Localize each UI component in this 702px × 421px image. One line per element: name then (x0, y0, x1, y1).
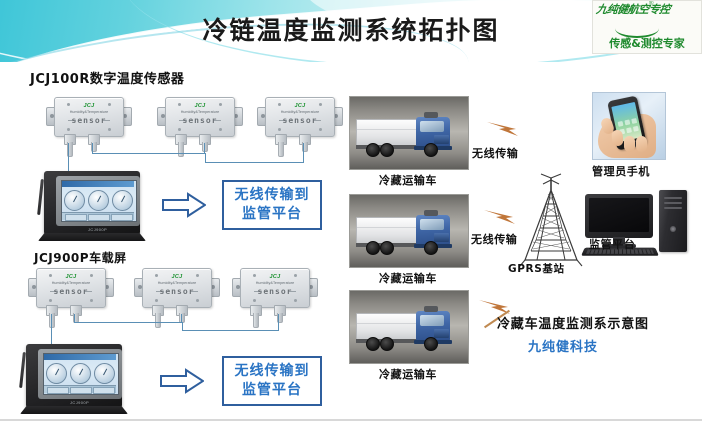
sensor-wire (74, 314, 75, 323)
antenna-icon (37, 179, 44, 215)
sensor-subtitle: Humidity&Temperature (166, 110, 234, 114)
sensor-probe-stem (155, 313, 161, 328)
sensor-word: sensor (266, 116, 334, 125)
vehicle-screen-device-2: JCJ900P (20, 344, 128, 420)
callout2-line2: 监管平台 (235, 381, 310, 400)
company-name: 九纯健科技 (528, 336, 598, 355)
slide-root: 冷链温度监测系统拓扑图 九纯健航空专控 ® 传感&测控专家 JCJ100R数字温… (0, 0, 702, 421)
sensor-probe-stem (49, 313, 55, 328)
vehicle-screen-device: JCJ900P (38, 171, 146, 247)
sensor-brand: JCJ (241, 274, 309, 280)
truck-wheel (366, 337, 380, 351)
wireless-label-2: 无线传输 (471, 231, 517, 247)
truck-photo (349, 96, 469, 170)
screen-case: JCJ900P (44, 171, 140, 235)
screw-icon (219, 128, 222, 131)
screen-button (88, 214, 110, 221)
truck-wheel (380, 143, 394, 157)
sensor-wire (182, 330, 278, 331)
screen-stand (38, 233, 146, 241)
sensor-probe-stem (202, 142, 208, 152)
registered-mark-icon: ® (649, 1, 653, 7)
sensor-word: sensor (55, 116, 123, 125)
sensor-probe-stem (178, 142, 184, 157)
gauge-dial-icon (112, 190, 133, 211)
app-icon (626, 127, 632, 133)
truck-wheel (424, 143, 438, 157)
sensor-device: JCJ Humidity&Temperature sensor (134, 266, 220, 328)
antenna-icon (19, 352, 26, 388)
gauge-dial-icon (70, 363, 91, 384)
pc-monitor (585, 194, 653, 238)
screen-button (93, 387, 115, 394)
screw-icon (155, 299, 158, 302)
screen-topbar (62, 181, 134, 187)
screw-icon (49, 299, 52, 302)
screw-icon (294, 299, 297, 302)
pc-monitor-screen (589, 198, 649, 232)
screen-brand: JCJ900P (70, 400, 89, 405)
callout2-line1: 无线传输到 (235, 362, 310, 381)
truck-wheel (424, 337, 438, 351)
sensor-word: sensor (37, 287, 105, 296)
screw-icon (90, 299, 93, 302)
wireless-bolt-1-icon (485, 117, 529, 139)
sensor-subtitle: Humidity&Temperature (241, 281, 309, 285)
sensor-body: JCJ Humidity&Temperature sensor (240, 268, 310, 308)
truck-roof-unit (424, 306, 438, 312)
app-icon (618, 121, 624, 127)
gauge-dial-icon (46, 363, 67, 384)
sensor-wire (74, 322, 182, 323)
sensor-subtitle: Humidity&Temperature (37, 281, 105, 285)
truck-photo (349, 290, 469, 364)
pc-drive-bay (664, 207, 682, 209)
sensor-wire (181, 314, 182, 323)
sensor-brand: JCJ (55, 103, 123, 109)
callout-text-bottom: 无线传输到 监管平台 (235, 362, 310, 400)
truck-grille (434, 135, 449, 144)
sensor-body: JCJ Humidity&Temperature sensor (265, 97, 335, 137)
admin-phone (592, 92, 664, 158)
refrigerated-truck-2: 冷藏运输车 (349, 194, 467, 266)
truck-caption-1: 冷藏运输车 (341, 172, 475, 188)
phone-caption: 管理员手机 (592, 163, 650, 179)
truck-roof-unit (424, 210, 438, 216)
sensor-device: JCJ Humidity&Temperature sensor (257, 95, 343, 157)
sensor-wire (204, 143, 205, 154)
callout-line1: 无线传输到 (235, 186, 310, 205)
screen-bottombar (62, 212, 134, 220)
platform-caption: 监管平台 (589, 236, 635, 252)
sensor-subtitle: Humidity&Temperature (143, 281, 211, 285)
sensor-word: sensor (166, 116, 234, 125)
truck-grille (434, 329, 449, 338)
flow-arrow-top (162, 192, 206, 218)
screen-topbar (44, 354, 116, 360)
sensor-word: sensor (241, 287, 309, 296)
sensor-word: sensor (143, 287, 211, 296)
truck-grille (434, 233, 449, 242)
company-logo: 九纯健航空专控 ® 传感&测控专家 (592, 0, 702, 54)
sensor-wire (303, 143, 304, 163)
truck-windshield (420, 219, 444, 230)
sensor-wire (92, 143, 93, 154)
sensor-body: JCJ Humidity&Temperature sensor (142, 268, 212, 308)
truck-roof-unit (424, 112, 438, 118)
gauge-dial-icon (94, 363, 115, 384)
pc-power-button (670, 226, 676, 232)
sensor-probe-stem (278, 142, 284, 157)
sensor-probe-stem (253, 313, 259, 328)
finger (624, 136, 635, 152)
sensor-wire (51, 314, 52, 344)
screw-icon (196, 299, 199, 302)
sensor-body: JCJ Humidity&Temperature sensor (36, 268, 106, 308)
pc-drive-bay (664, 202, 682, 204)
sensor-device: JCJ Humidity&Temperature sensor (232, 266, 318, 328)
screen-button (47, 387, 69, 394)
sensor-brand: JCJ (143, 274, 211, 280)
sensor-section-title: JCJ100R数字温度传感器 (30, 68, 184, 87)
truck-wheel (380, 241, 394, 255)
flow-arrow-bottom (160, 368, 204, 394)
sensor-wire (182, 322, 183, 331)
pc-drive-bay (664, 197, 682, 199)
finger (636, 136, 647, 152)
screen-button (70, 387, 92, 394)
pc-tower-case (659, 190, 687, 252)
app-icon (633, 126, 639, 132)
app-icon (624, 119, 630, 125)
truck-caption-3: 冷藏运输车 (341, 366, 475, 382)
sensor-wire (205, 153, 206, 163)
sensor-wire (68, 143, 69, 171)
gprs-tower (515, 172, 587, 268)
screen-button (65, 214, 87, 221)
truck-wheel (424, 241, 438, 255)
screen-bottombar (44, 385, 116, 393)
sensor-subtitle: Humidity&Temperature (266, 110, 334, 114)
sensor-device: JCJ Humidity&Temperature sensor (157, 95, 243, 157)
sensor-body: JCJ Humidity&Temperature sensor (54, 97, 124, 137)
callout-box-bottom: 无线传输到 监管平台 (222, 356, 322, 406)
screen-stand (20, 406, 128, 414)
screen-brand: JCJ900P (88, 227, 107, 232)
callout-line2: 监管平台 (235, 205, 310, 224)
refrigerated-truck-1: 冷藏运输车 (349, 96, 467, 168)
finger (611, 129, 624, 146)
vehicle-screen-label: JCJ900P车载屏 (34, 249, 127, 266)
sensor-wire (278, 314, 279, 331)
truck-caption-2: 冷藏运输车 (341, 270, 475, 286)
callout-box-top: 无线传输到 监管平台 (222, 180, 322, 230)
diagram-subtitle: 冷藏车温度监测系示意图 (497, 313, 649, 332)
truck-wheel (366, 241, 380, 255)
truck-windshield (420, 121, 444, 132)
screw-icon (178, 128, 181, 131)
sensor-wire (205, 162, 303, 163)
truck-photo (349, 194, 469, 268)
truck-windshield (420, 315, 444, 326)
tower-caption: GPRS基站 (508, 261, 565, 276)
screen-case: JCJ900P (26, 344, 122, 408)
wireless-label-1: 无线传输 (472, 145, 518, 161)
callout-text-top: 无线传输到 监管平台 (235, 186, 310, 224)
screw-icon (108, 128, 111, 131)
truck-wheel (366, 143, 380, 157)
sensor-brand: JCJ (266, 103, 334, 109)
screw-icon (253, 299, 256, 302)
sensor-wire (92, 153, 205, 154)
refrigerated-truck-3: 冷藏运输车 (349, 290, 467, 362)
sensor-brand: JCJ (37, 274, 105, 280)
sensor-brand: JCJ (166, 103, 234, 109)
logo-line2: 传感&测控专家 (596, 35, 698, 51)
gauge-dial-icon (88, 190, 109, 211)
gauge-dial-icon (64, 190, 85, 211)
screw-icon (278, 128, 281, 131)
screw-icon (319, 128, 322, 131)
sensor-device: JCJ Humidity&Temperature sensor (28, 266, 114, 328)
screw-icon (67, 128, 70, 131)
screen-button (111, 214, 133, 221)
sensor-body: JCJ Humidity&Temperature sensor (165, 97, 235, 137)
sensor-subtitle: Humidity&Temperature (55, 110, 123, 114)
truck-wheel (380, 337, 394, 351)
app-icon (631, 118, 637, 124)
sensor-device: JCJ Humidity&Temperature sensor (46, 95, 132, 157)
